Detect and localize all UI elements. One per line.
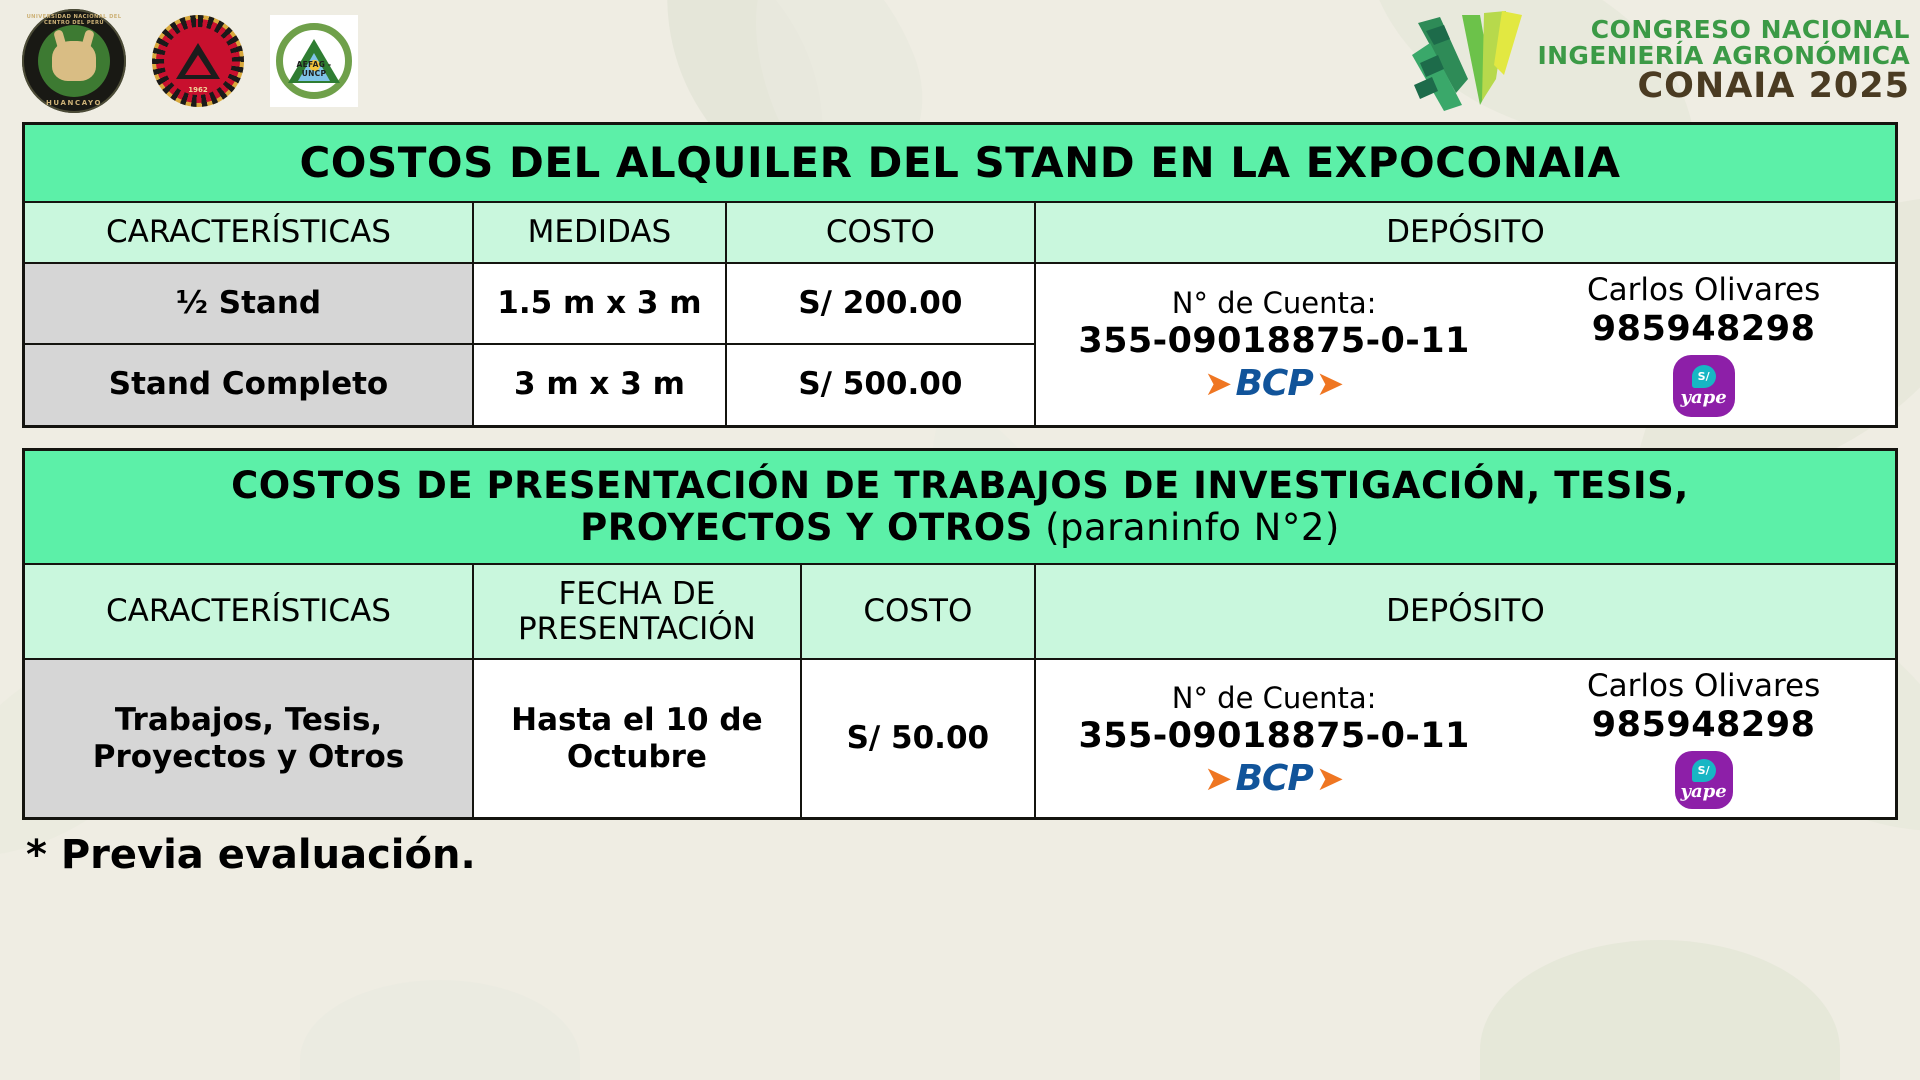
bcp-wordmark: BCP bbox=[1235, 366, 1312, 402]
leaf-watermark bbox=[300, 980, 580, 1080]
table1-r0-caracteristicas: ½ Stand bbox=[24, 263, 474, 344]
poster-header: UNIVERSIDAD NACIONAL DEL CENTRO DEL PERÚ… bbox=[0, 0, 1920, 122]
table1-r1-caracteristicas: Stand Completo bbox=[24, 344, 474, 426]
conaia-brand: CONGRESO NACIONAL INGENIERÍA AGRONÓMICA … bbox=[1410, 9, 1910, 113]
table1-r1-costo: S/ 500.00 bbox=[726, 344, 1035, 426]
uncp-seal-arc-bottom: HUANCAYO bbox=[22, 99, 126, 107]
stand-pricing-table: COSTOS DEL ALQUILER DEL STAND EN LA EXPO… bbox=[22, 122, 1898, 428]
pricing-tables: COSTOS DEL ALQUILER DEL STAND EN LA EXPO… bbox=[0, 122, 1920, 820]
table2-col-deposito: DEPÓSITO bbox=[1035, 564, 1897, 659]
table2-title-line1: COSTOS DE PRESENTACIÓN DE TRABAJOS DE IN… bbox=[231, 464, 1689, 507]
table1-r0-costo: S/ 200.00 bbox=[726, 263, 1035, 344]
uncp-seal-arc-top: UNIVERSIDAD NACIONAL DEL CENTRO DEL PERÚ bbox=[22, 14, 126, 26]
institution-logos: UNIVERSIDAD NACIONAL DEL CENTRO DEL PERÚ… bbox=[22, 9, 358, 113]
bcp-chevron-left-icon: ➤ bbox=[1204, 762, 1233, 796]
table2-header-row: CARACTERÍSTICAS FECHA DE PRESENTACIÓN CO… bbox=[24, 564, 1897, 659]
table2-r0-fecha: Hasta el 10 de Octubre bbox=[473, 659, 801, 819]
table2-col-caracteristicas: CARACTERÍSTICAS bbox=[24, 564, 474, 659]
xv-roman-logo-icon bbox=[1410, 9, 1530, 113]
table1-account-number: 355-09018875-0-11 bbox=[1078, 321, 1469, 361]
bcp-wordmark: BCP bbox=[1235, 761, 1312, 797]
table2-col-fecha: FECHA DE PRESENTACIÓN bbox=[473, 564, 801, 659]
table2-r0-fecha-line2: Octubre bbox=[567, 739, 707, 775]
brand-line-3: CONAIA 2025 bbox=[1538, 69, 1910, 105]
table2-account-number: 355-09018875-0-11 bbox=[1078, 716, 1469, 756]
table1-col-caracteristicas: CARACTERÍSTICAS bbox=[24, 202, 474, 263]
table2-r0-caracteristicas-line2: Proyectos y Otros bbox=[93, 739, 404, 775]
table1-col-medidas: MEDIDAS bbox=[473, 202, 726, 263]
table2-title-suffix: (paraninfo N°2) bbox=[1033, 506, 1340, 549]
brand-line-2: INGENIERÍA AGRONÓMICA bbox=[1538, 43, 1910, 69]
table2-wallet-block: Carlos Olivares 985948298 S/ yape bbox=[1512, 660, 1895, 817]
table2-owner-phone: 985948298 bbox=[1592, 705, 1816, 745]
aefag-seal-icon: AEFAG - UNCP bbox=[270, 15, 358, 107]
table1-r0-medidas: 1.5 m x 3 m bbox=[473, 263, 726, 344]
table2-account-label: N° de Cuenta: bbox=[1172, 681, 1377, 715]
table2-r0-caracteristicas: Trabajos, Tesis, Proyectos y Otros bbox=[24, 659, 474, 819]
footnote: * Previa evaluación. bbox=[0, 820, 1920, 878]
yape-currency-bubble: S/ bbox=[1692, 759, 1716, 782]
table1-title-row: COSTOS DEL ALQUILER DEL STAND EN LA EXPO… bbox=[24, 124, 1897, 202]
table2-bank-block: N° de Cuenta: 355-09018875-0-11 ➤ BCP ➤ bbox=[1036, 660, 1512, 817]
aefag-seal-label: AEFAG - UNCP bbox=[283, 60, 345, 78]
table1-wallet-block: Carlos Olivares 985948298 S/ yape bbox=[1512, 264, 1895, 425]
table2-r0-fecha-line1: Hasta el 10 de bbox=[511, 702, 762, 738]
table2-deposito-cell: N° de Cuenta: 355-09018875-0-11 ➤ BCP ➤ … bbox=[1035, 659, 1897, 819]
yape-logo-icon: S/ yape bbox=[1675, 751, 1733, 809]
cip-seal-year: 1962 bbox=[156, 86, 240, 94]
table1-owner-name: Carlos Olivares bbox=[1587, 272, 1820, 308]
table2-col-costo: COSTO bbox=[801, 564, 1035, 659]
table1-deposito-cell: N° de Cuenta: 355-09018875-0-11 ➤ BCP ➤ … bbox=[1035, 263, 1897, 427]
table-row: ½ Stand 1.5 m x 3 m S/ 200.00 N° de Cuen… bbox=[24, 263, 1897, 344]
table2-col-fecha-line2: PRESENTACIÓN bbox=[518, 611, 756, 647]
yape-wordmark: yape bbox=[1681, 389, 1727, 407]
bcp-chevron-right-icon: ➤ bbox=[1316, 367, 1345, 401]
table2-title-cell: COSTOS DE PRESENTACIÓN DE TRABAJOS DE IN… bbox=[24, 449, 1897, 564]
cip-seal-icon: 1962 bbox=[152, 15, 244, 107]
research-pricing-table: COSTOS DE PRESENTACIÓN DE TRABAJOS DE IN… bbox=[22, 448, 1898, 821]
table1-col-costo: COSTO bbox=[726, 202, 1035, 263]
table1-r1-medidas: 3 m x 3 m bbox=[473, 344, 726, 426]
yape-currency-bubble: S/ bbox=[1692, 365, 1716, 388]
table2-r0-caracteristicas-line1: Trabajos, Tesis, bbox=[115, 702, 382, 738]
poster-page: UNIVERSIDAD NACIONAL DEL CENTRO DEL PERÚ… bbox=[0, 0, 1920, 1080]
leaf-watermark bbox=[1480, 940, 1840, 1080]
table2-owner-name: Carlos Olivares bbox=[1587, 668, 1820, 704]
table2-title-row: COSTOS DE PRESENTACIÓN DE TRABAJOS DE IN… bbox=[24, 449, 1897, 564]
table1-title: COSTOS DEL ALQUILER DEL STAND EN LA EXPO… bbox=[35, 139, 1885, 187]
bcp-chevron-right-icon: ➤ bbox=[1316, 762, 1345, 796]
table2-col-fecha-line1: FECHA DE bbox=[558, 576, 715, 612]
table1-owner-phone: 985948298 bbox=[1592, 309, 1816, 349]
table1-account-label: N° de Cuenta: bbox=[1172, 286, 1377, 320]
table1-col-deposito: DEPÓSITO bbox=[1035, 202, 1897, 263]
table2-title-line2: PROYECTOS Y OTROS bbox=[580, 506, 1033, 549]
uncp-seal-icon: UNIVERSIDAD NACIONAL DEL CENTRO DEL PERÚ… bbox=[22, 9, 126, 113]
yape-wordmark: yape bbox=[1681, 783, 1727, 801]
table1-bank-block: N° de Cuenta: 355-09018875-0-11 ➤ BCP ➤ bbox=[1036, 264, 1512, 425]
table2-r0-costo: S/ 50.00 bbox=[801, 659, 1035, 819]
table-row: Trabajos, Tesis, Proyectos y Otros Hasta… bbox=[24, 659, 1897, 819]
bcp-logo-icon: ➤ BCP ➤ bbox=[1204, 366, 1344, 402]
yape-logo-icon: S/ yape bbox=[1673, 355, 1735, 417]
bcp-chevron-left-icon: ➤ bbox=[1204, 367, 1233, 401]
bcp-logo-icon: ➤ BCP ➤ bbox=[1204, 761, 1344, 797]
brand-line-1: CONGRESO NACIONAL bbox=[1538, 17, 1910, 43]
table1-title-cell: COSTOS DEL ALQUILER DEL STAND EN LA EXPO… bbox=[24, 124, 1897, 202]
table1-header-row: CARACTERÍSTICAS MEDIDAS COSTO DEPÓSITO bbox=[24, 202, 1897, 263]
